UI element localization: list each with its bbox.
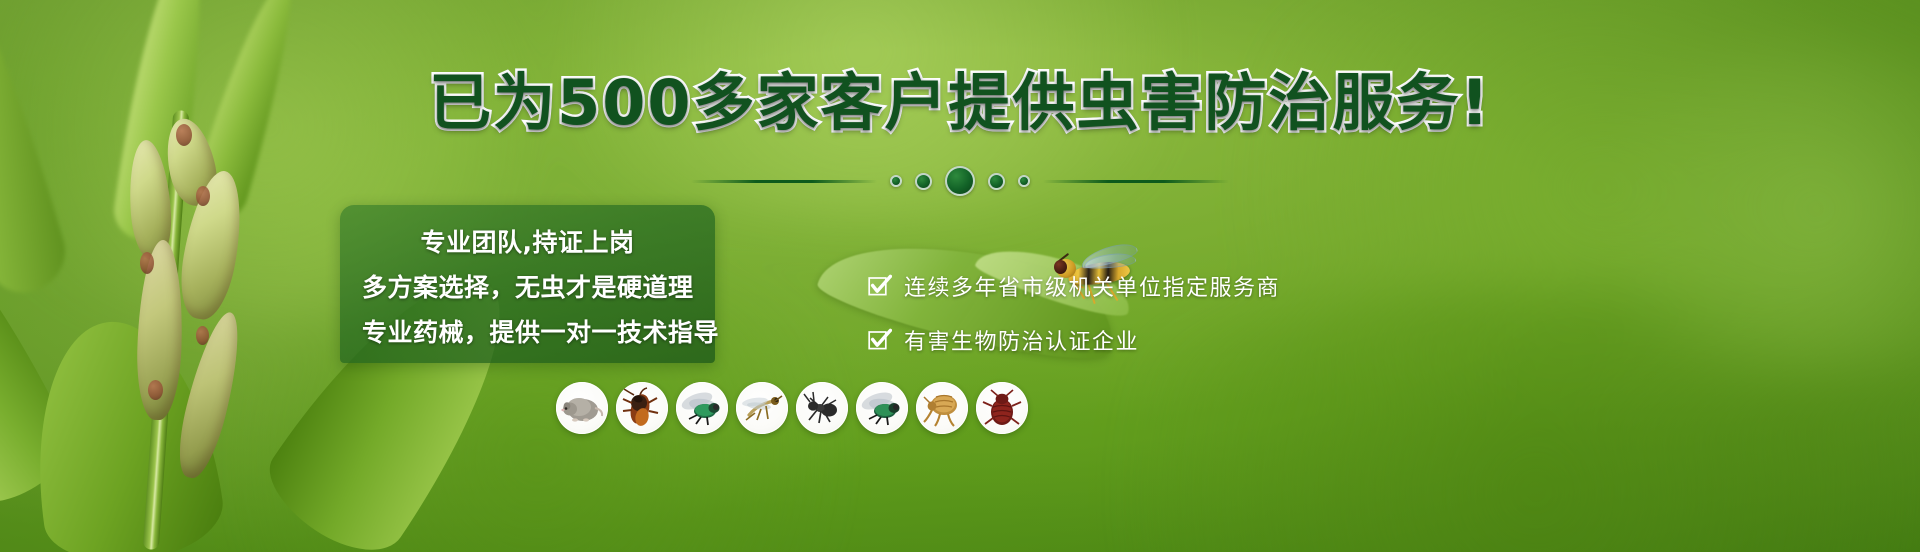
- decorative-divider: [0, 168, 1920, 194]
- credential-item: 有害生物防治认证企业: [868, 324, 1388, 356]
- credentials-list: 连续多年省市级机关单位指定服务商 有害生物防治认证企业: [868, 270, 1388, 356]
- decorative-dot-large-icon: [945, 166, 975, 196]
- flea-icon: [916, 382, 968, 434]
- decorative-dot-small-icon: [890, 175, 902, 187]
- divider-rule-left: [691, 180, 877, 183]
- promotional-banner: 已为500多家客户提供虫害防治服务! 专业团队,持证上岗 多方案选择，无虫才是硬…: [0, 0, 1920, 552]
- credential-text: 连续多年省市级机关单位指定服务商: [904, 270, 1280, 302]
- blowfly-icon: [856, 382, 908, 434]
- banner-headline: 已为500多家客户提供虫害防治服务!: [0, 72, 1920, 134]
- mosquito-icon: [736, 382, 788, 434]
- rodent-icon: [556, 382, 608, 434]
- credential-item: 连续多年省市级机关单位指定服务商: [868, 270, 1388, 302]
- feature-panel-line-1: 专业团队,持证上岗: [362, 223, 693, 259]
- feature-panel-line-3: 专业药械，提供一对一技术指导: [362, 313, 693, 349]
- decorative-dot-small-right-icon: [1018, 175, 1030, 187]
- divider-rule-right: [1043, 180, 1229, 183]
- ant-icon: [796, 382, 848, 434]
- feature-panel: 专业团队,持证上岗 多方案选择，无虫才是硬道理 专业药械，提供一对一技术指导: [340, 205, 715, 363]
- credential-text: 有害生物防治认证企业: [904, 324, 1139, 356]
- cockroach-icon: [616, 382, 668, 434]
- fly-icon: [676, 382, 728, 434]
- decorative-dot-medium-right-icon: [988, 173, 1005, 190]
- feature-panel-line-2: 多方案选择，无虫才是硬道理: [362, 268, 693, 304]
- checkbox-checked-icon: [868, 328, 892, 352]
- decorative-dot-medium-icon: [915, 173, 932, 190]
- checkbox-checked-icon: [868, 274, 892, 298]
- pest-icon-row: [556, 378, 1076, 438]
- banner-headline-text: 已为500多家客户提供虫害防治服务!: [429, 66, 1491, 139]
- bedbug-icon: [976, 382, 1028, 434]
